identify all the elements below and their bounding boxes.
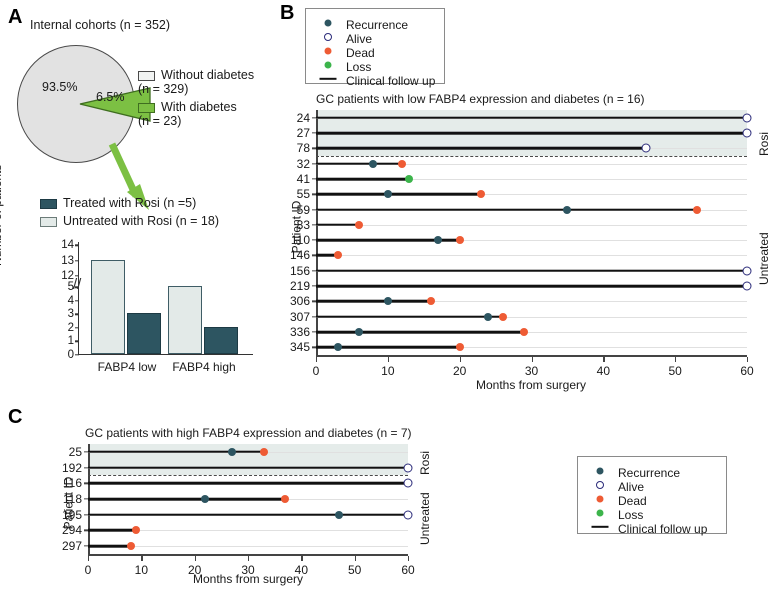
bar-chart: Number of patients 012345121314//FABP4 l… — [18, 238, 268, 388]
bar-rect — [91, 260, 125, 354]
event-marker-dead[interactable] — [281, 495, 289, 503]
event-marker-dead[interactable] — [132, 526, 140, 534]
event-marker-alive[interactable] — [743, 266, 752, 275]
bar-y-tick-mark — [75, 354, 79, 355]
patient-id-label: 345 — [290, 340, 310, 354]
x-tick-mark — [301, 556, 302, 561]
panel-b-legend-marker-clinical-follow-up — [320, 78, 337, 80]
patient-id-label: 307 — [290, 310, 310, 324]
patient-row-tick — [312, 301, 316, 302]
patient-id-label: 297 — [62, 539, 82, 553]
x-tick-label: 50 — [348, 563, 361, 577]
followup-lane[interactable] — [316, 132, 747, 135]
patient-row-tick — [312, 194, 316, 195]
patient-row-tick — [312, 255, 316, 256]
event-marker-recurrence[interactable] — [355, 328, 363, 336]
panel-a: A Internal cohorts (n = 352) 93.5% 6.5% … — [0, 0, 280, 400]
x-tick-mark — [195, 556, 196, 561]
patient-id-label: 41 — [297, 172, 310, 186]
group-divider — [316, 156, 747, 157]
x-tick-mark — [747, 357, 748, 362]
event-marker-alive[interactable] — [743, 128, 752, 137]
followup-lane[interactable] — [316, 300, 431, 303]
patient-id-label: 336 — [290, 325, 310, 339]
patient-row-tick — [84, 498, 88, 499]
x-tick-mark — [603, 357, 604, 362]
row-grid-line — [316, 225, 747, 226]
x-tick-label: 60 — [740, 364, 753, 378]
group-label-rosi: Rosi — [418, 451, 432, 475]
followup-lane[interactable] — [88, 545, 131, 548]
event-marker-dead[interactable] — [398, 160, 406, 168]
rosi-group-band — [88, 444, 408, 475]
bar-legend-treated: Treated with Rosi (n =5) — [40, 196, 196, 210]
event-marker-recurrence[interactable] — [384, 297, 392, 305]
patient-id-label: 219 — [290, 279, 310, 293]
x-tick-mark — [408, 556, 409, 561]
event-marker-dead[interactable] — [693, 206, 701, 214]
patient-row-tick — [312, 148, 316, 149]
followup-lane[interactable] — [316, 331, 524, 334]
patient-row-tick — [84, 483, 88, 484]
x-tick-label: 20 — [453, 364, 466, 378]
panel-b-legend-label-loss: Loss — [346, 60, 371, 74]
panel-c-legend-marker-loss — [597, 510, 604, 517]
panel-c-title: GC patients with high FABP4 expression a… — [85, 426, 412, 440]
panel-c-legend-label-loss: Loss — [618, 508, 643, 522]
patient-id-label: 78 — [297, 141, 310, 155]
bar-legend-label-treated: Treated with Rosi (n =5) — [63, 196, 196, 210]
patient-id-label: 306 — [290, 294, 310, 308]
bar-y-tick-mark — [75, 245, 79, 246]
x-tick-mark — [675, 357, 676, 362]
panel-c-letter: C — [8, 406, 22, 429]
x-tick-mark — [88, 556, 89, 561]
patient-row-tick — [84, 530, 88, 531]
pie-legend-label-with-diabetes: With diabetes — [161, 100, 237, 114]
panel-b-x-axis-title: Months from surgery — [476, 378, 586, 392]
panel-c-legend-label-clinical-follow-up: Clinical follow up — [618, 522, 707, 536]
panel-c-legend: RecurrenceAliveDeadLossClinical follow u… — [577, 456, 727, 534]
event-marker-recurrence[interactable] — [484, 313, 492, 321]
panel-c-legend-marker-clinical-follow-up — [592, 526, 609, 528]
followup-lane[interactable] — [88, 482, 408, 485]
patient-row-tick — [312, 285, 316, 286]
x-tick-label: 30 — [525, 364, 538, 378]
pie-legend-with-diabetes: With diabetes (n = 23) — [138, 100, 237, 128]
swatch-untreated-rosi — [40, 217, 57, 227]
bar-legend-label-untreated: Untreated with Rosi (n = 18) — [63, 214, 219, 228]
event-marker-alive[interactable] — [404, 463, 413, 472]
event-marker-recurrence[interactable] — [434, 236, 442, 244]
event-marker-dead[interactable] — [427, 297, 435, 305]
panel-c-legend-label-recurrence: Recurrence — [618, 466, 680, 480]
patient-id-label: 192 — [62, 461, 82, 475]
event-marker-dead[interactable] — [260, 448, 268, 456]
x-tick-mark — [460, 357, 461, 362]
event-marker-recurrence[interactable] — [369, 160, 377, 168]
event-marker-dead[interactable] — [456, 236, 464, 244]
panel-b-legend-label-dead: Dead — [346, 46, 375, 60]
patient-row-tick — [312, 316, 316, 317]
bar-y-tick-mark — [75, 260, 79, 261]
x-tick-label: 0 — [85, 563, 92, 577]
followup-lane[interactable] — [316, 315, 503, 318]
x-tick-label: 40 — [597, 364, 610, 378]
bar-y-tick-label: 4 — [68, 295, 74, 307]
panel-c-legend-marker-dead — [597, 496, 604, 503]
followup-lane[interactable] — [316, 147, 646, 150]
event-marker-recurrence[interactable] — [228, 448, 236, 456]
pie-percent-without-diabetes: 93.5% — [42, 80, 77, 94]
panel-b-letter: B — [280, 2, 294, 25]
pie-chart-title: Internal cohorts (n = 352) — [30, 18, 170, 32]
panel-b-legend-label-alive: Alive — [346, 32, 372, 46]
bar-chart-y-axis-label: Number of patients — [0, 165, 4, 266]
patient-row-tick — [84, 467, 88, 468]
bar-y-tick-mark — [75, 341, 79, 342]
swatch-with-diabetes — [138, 103, 155, 113]
swatch-treated-rosi — [40, 199, 57, 209]
panel-c: C GC patients with high FABP4 expression… — [0, 400, 600, 592]
followup-lane[interactable] — [316, 162, 402, 165]
x-tick-label: 10 — [381, 364, 394, 378]
panel-b-legend: RecurrenceAliveDeadLossClinical follow u… — [305, 8, 445, 84]
patient-row-tick — [84, 451, 88, 452]
x-tick-mark — [141, 556, 142, 561]
event-marker-alive[interactable] — [743, 282, 752, 291]
patient-id-label: 27 — [297, 126, 310, 140]
x-tick-label: 0 — [313, 364, 320, 378]
event-marker-recurrence[interactable] — [334, 343, 342, 351]
event-marker-alive[interactable] — [642, 144, 651, 153]
patient-row-tick — [312, 178, 316, 179]
pie-legend-count-without-diabetes: (n = 329) — [138, 82, 254, 96]
pie-legend-without-diabetes: Without diabetes (n = 329) — [138, 68, 254, 96]
followup-lane[interactable] — [88, 513, 408, 516]
patient-id-label: 156 — [290, 264, 310, 278]
group-divider — [88, 475, 408, 476]
followup-lane[interactable] — [316, 285, 747, 288]
x-tick-mark — [316, 357, 317, 362]
panel-c-legend-marker-alive — [596, 481, 604, 489]
event-marker-recurrence[interactable] — [384, 190, 392, 198]
bar-chart-plot-area: 012345121314//FABP4 lowFABP4 high — [78, 242, 253, 355]
followup-lane[interactable] — [316, 193, 481, 196]
patient-id-label: 32 — [297, 157, 310, 171]
followup-lane[interactable] — [316, 269, 747, 272]
bar-rect — [204, 327, 238, 354]
bar-y-tick-label: 1 — [68, 335, 74, 347]
followup-lane[interactable] — [316, 178, 409, 181]
x-tick-mark — [355, 556, 356, 561]
panel-b-y-axis-label: Patient ID — [289, 201, 303, 254]
pie-percent-with-diabetes: 6.5% — [96, 90, 125, 104]
x-tick-mark — [248, 556, 249, 561]
patient-row-tick — [312, 132, 316, 133]
followup-lane[interactable] — [88, 529, 136, 532]
x-tick-mark — [532, 357, 533, 362]
bar-y-tick-mark — [75, 300, 79, 301]
event-marker-recurrence[interactable] — [335, 511, 343, 519]
event-marker-loss[interactable] — [405, 175, 413, 183]
pie-legend-label-without-diabetes: Without diabetes — [161, 68, 254, 82]
bar-y-tick-label: 2 — [68, 322, 74, 334]
panel-c-y-axis-label: Patient ID — [61, 477, 75, 530]
patient-row-tick — [312, 117, 316, 118]
panel-b-legend-marker-loss — [325, 62, 332, 69]
panel-c-legend-label-dead: Dead — [618, 494, 647, 508]
bar-y-tick-mark — [75, 327, 79, 328]
group-label-rosi: Rosi — [757, 132, 771, 156]
event-marker-alive[interactable] — [743, 113, 752, 122]
panel-b-legend-marker-dead — [325, 48, 332, 55]
patient-row-tick — [312, 331, 316, 332]
bar-rect — [127, 313, 161, 354]
panel-c-legend-label-alive: Alive — [618, 480, 644, 494]
event-marker-dead[interactable] — [127, 542, 135, 550]
row-grid-line — [88, 546, 408, 547]
followup-lane[interactable] — [88, 451, 264, 454]
event-marker-dead[interactable] — [456, 343, 464, 351]
bar-axis-break-icon: // — [73, 282, 81, 288]
bar-x-category-label: FABP4 low — [98, 360, 157, 374]
x-tick-label: 10 — [135, 563, 148, 577]
patient-id-label: 24 — [297, 111, 310, 125]
row-grid-line — [316, 255, 747, 256]
patient-row-tick — [312, 224, 316, 225]
followup-lane[interactable] — [88, 466, 408, 469]
bar-rect — [168, 286, 202, 354]
patient-row-tick — [312, 240, 316, 241]
panel-b-legend-marker-recurrence — [325, 20, 332, 27]
swatch-without-diabetes — [138, 71, 155, 81]
panel-c-plot-area: 251921161181952942970102030405060RosiUnt… — [88, 444, 408, 554]
followup-lane[interactable] — [316, 208, 697, 211]
patient-row-tick — [312, 163, 316, 164]
event-marker-dead[interactable] — [477, 190, 485, 198]
event-marker-alive[interactable] — [404, 510, 413, 519]
followup-lane[interactable] — [316, 224, 359, 227]
patient-row-tick — [312, 347, 316, 348]
patient-id-label: 55 — [297, 187, 310, 201]
x-tick-label: 50 — [668, 364, 681, 378]
patient-row-tick — [84, 545, 88, 546]
patient-row-tick — [312, 270, 316, 271]
pie-legend-count-with-diabetes: (n = 23) — [138, 114, 237, 128]
bar-y-tick-label: 14 — [61, 239, 74, 251]
bar-legend-untreated: Untreated with Rosi (n = 18) — [40, 214, 219, 228]
bar-y-tick-label: 3 — [68, 308, 74, 320]
group-label-untreated: Untreated — [757, 233, 771, 286]
panel-b-plot-area: 2427783241555983110146156219306307336345… — [316, 110, 747, 355]
panel-b-legend-label-clinical-follow-up: Clinical follow up — [346, 74, 435, 88]
panel-b-title: GC patients with low FABP4 expression an… — [316, 92, 645, 106]
patient-id-label: 25 — [69, 445, 82, 459]
panel-b-legend-marker-alive — [324, 33, 332, 41]
panel-a-letter: A — [8, 6, 22, 29]
panel-c-x-axis-title: Months from surgery — [193, 572, 303, 586]
patient-row-tick — [312, 209, 316, 210]
x-tick-label: 60 — [401, 563, 414, 577]
group-label-untreated: Untreated — [418, 492, 432, 545]
event-marker-dead[interactable] — [334, 251, 342, 259]
x-tick-mark — [388, 357, 389, 362]
event-marker-dead[interactable] — [355, 221, 363, 229]
event-marker-dead[interactable] — [499, 313, 507, 321]
panel-b-legend-label-recurrence: Recurrence — [346, 18, 408, 32]
followup-lane[interactable] — [88, 498, 285, 501]
event-marker-recurrence[interactable] — [563, 206, 571, 214]
event-marker-recurrence[interactable] — [201, 495, 209, 503]
panel-c-legend-marker-recurrence — [597, 468, 604, 475]
followup-lane[interactable] — [316, 116, 747, 119]
bar-x-category-label: FABP4 high — [172, 360, 235, 374]
patient-row-tick — [84, 514, 88, 515]
bar-y-tick-mark — [75, 314, 79, 315]
event-marker-alive[interactable] — [404, 479, 413, 488]
bar-y-tick-label: 13 — [61, 255, 74, 267]
bar-y-tick-label: 0 — [68, 349, 74, 361]
event-marker-dead[interactable] — [520, 328, 528, 336]
